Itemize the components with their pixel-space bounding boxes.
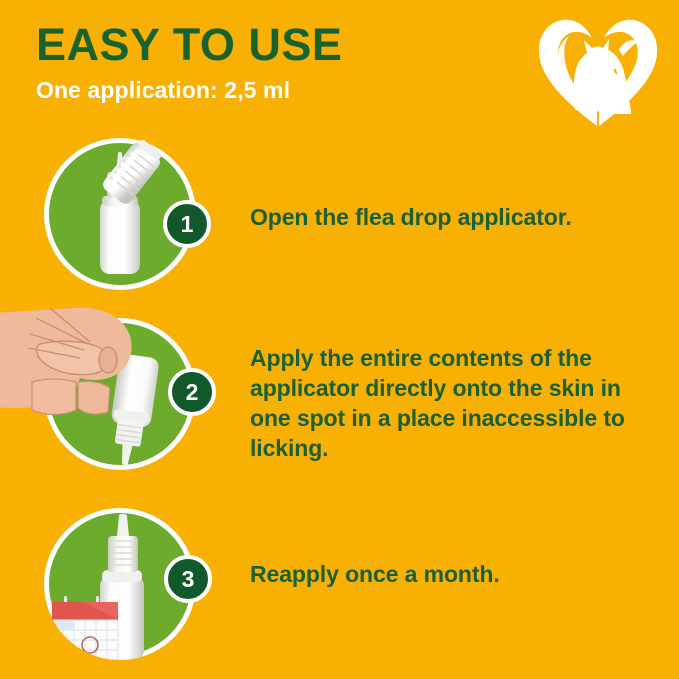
infographic-poster: EASY TO USE One application: 2,5 ml B P [0,0,679,679]
step-2-badge: 2 [168,368,216,416]
header: EASY TO USE One application: 2,5 ml [36,22,506,104]
step-2-text: Apply the entire contents of the applica… [250,344,655,464]
logo-monogram-p: P [593,76,610,109]
step-3-text: Reapply once a month. [250,560,660,590]
step-1-text: Open the flea drop applicator. [250,203,660,233]
page-subtitle: One application: 2,5 ml [36,77,506,104]
step-1-badge: 1 [163,200,211,248]
calendar-icon [52,596,118,660]
brand-logo: B P [535,14,663,132]
step-3-badge: 3 [164,555,212,603]
page-title: EASY TO USE [36,22,506,68]
heart-cat-dog-icon: B P [535,14,663,132]
